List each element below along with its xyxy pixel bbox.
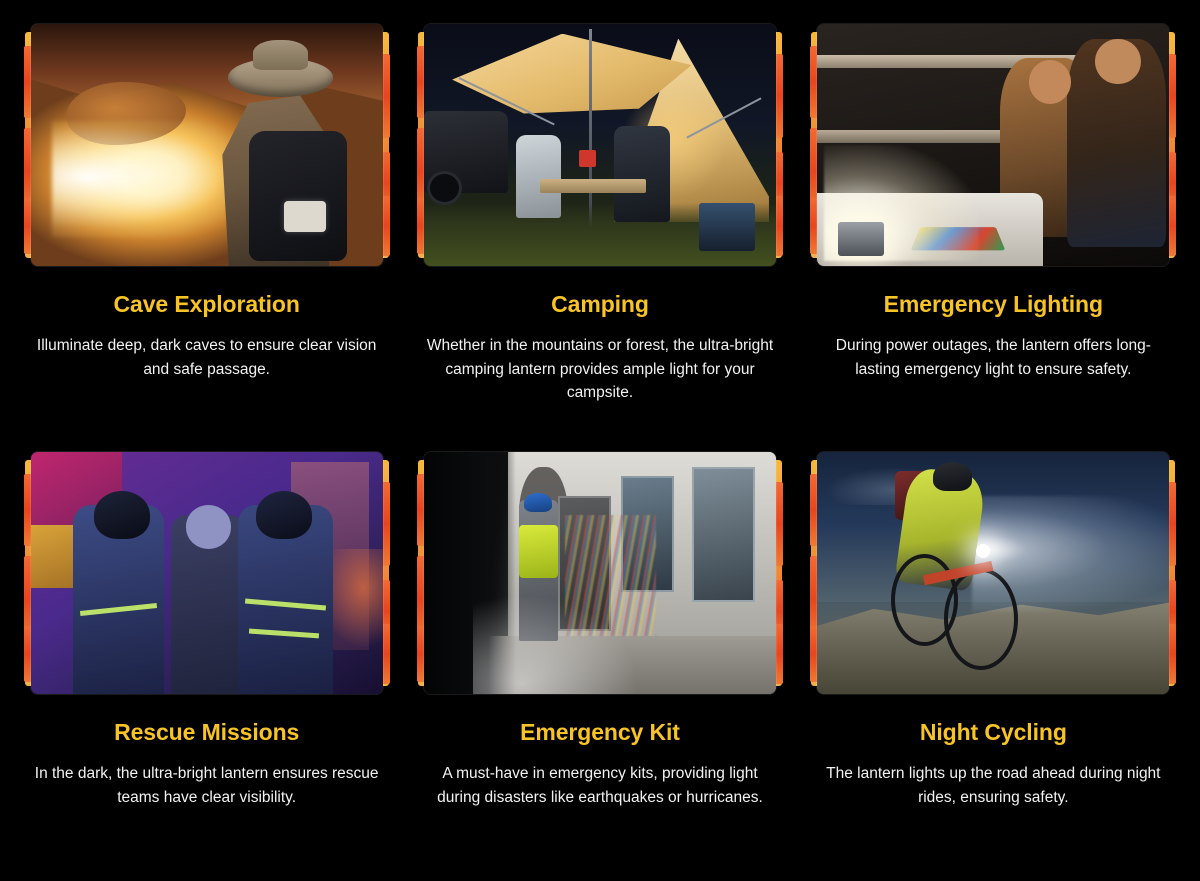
card-title: Rescue Missions (114, 720, 299, 745)
use-case-grid: Cave Exploration Illuminate deep, dark c… (0, 0, 1200, 881)
card-description: During power outages, the lantern offers… (819, 334, 1167, 381)
use-case-card-emergency-kit[interactable]: Emergency Kit A must-have in emergency k… (403, 452, 796, 870)
image-frame (23, 24, 391, 266)
use-case-card-night-cycling[interactable]: Night Cycling The lantern lights up the … (797, 452, 1190, 870)
card-image-emergency-kit (424, 452, 776, 694)
card-title: Emergency Kit (520, 720, 680, 745)
card-title: Emergency Lighting (884, 292, 1103, 317)
image-frame (809, 452, 1177, 694)
card-title: Night Cycling (920, 720, 1067, 745)
card-description: In the dark, the ultra-bright lantern en… (33, 762, 381, 809)
card-description: The lantern lights up the road ahead dur… (819, 762, 1167, 809)
image-frame (416, 24, 784, 266)
image-frame (416, 452, 784, 694)
image-frame (23, 452, 391, 694)
card-description: A must-have in emergency kits, providing… (426, 762, 774, 809)
image-frame (809, 24, 1177, 266)
card-title: Camping (551, 292, 649, 317)
card-image-night-cycling (817, 452, 1169, 694)
card-description: Illuminate deep, dark caves to ensure cl… (33, 334, 381, 381)
card-title: Cave Exploration (114, 292, 300, 317)
use-case-card-rescue-missions[interactable]: Rescue Missions In the dark, the ultra-b… (10, 452, 403, 870)
card-image-camping (424, 24, 776, 266)
card-image-cave-exploration (31, 24, 383, 266)
card-image-rescue-missions (31, 452, 383, 694)
card-image-emergency-lighting (817, 24, 1169, 266)
use-case-card-emergency-lighting[interactable]: Emergency Lighting During power outages,… (797, 24, 1190, 442)
card-description: Whether in the mountains or forest, the … (426, 334, 774, 405)
use-case-card-cave-exploration[interactable]: Cave Exploration Illuminate deep, dark c… (10, 24, 403, 442)
use-case-card-camping[interactable]: Camping Whether in the mountains or fore… (403, 24, 796, 442)
